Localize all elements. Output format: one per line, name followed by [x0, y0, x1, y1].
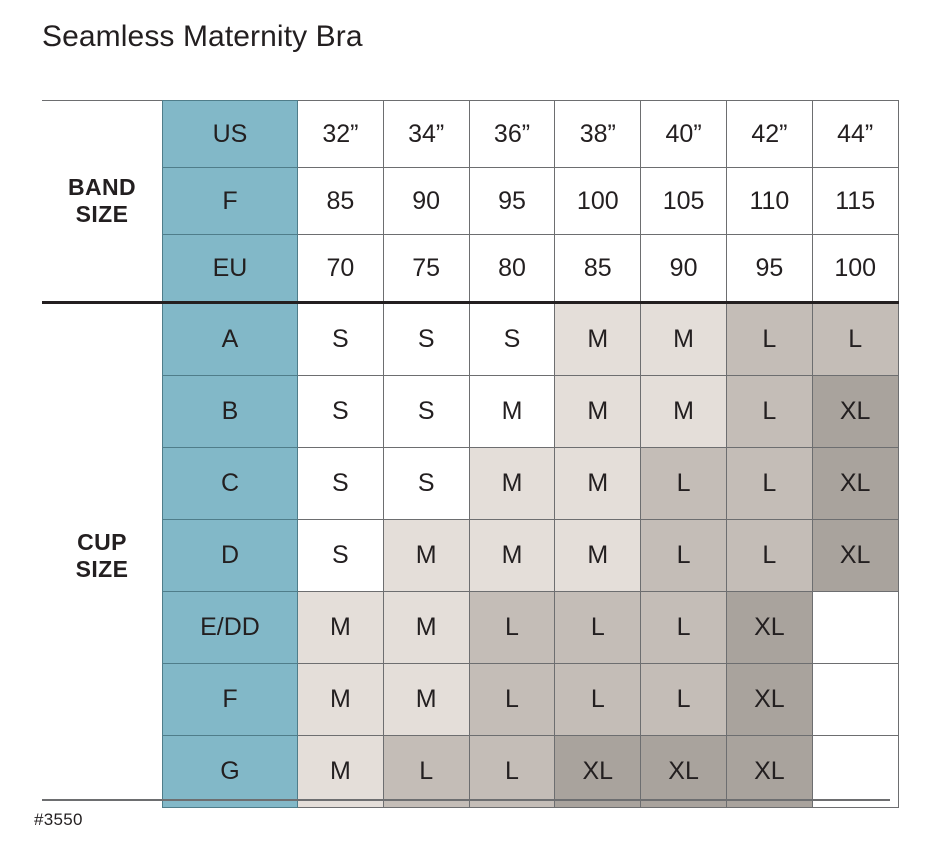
- row-key-g: G: [163, 736, 298, 808]
- cell-fband-2: 95: [469, 168, 555, 235]
- cell-d-5: L: [726, 520, 812, 592]
- cell-b-2: M: [469, 376, 555, 448]
- table-row-cup-g: G M L L XL XL XL: [42, 736, 898, 808]
- table-row-cup-f: F M M L L L XL: [42, 664, 898, 736]
- cell-a-1: S: [383, 303, 469, 376]
- cell-a-5: L: [726, 303, 812, 376]
- cell-fcup-3: L: [555, 664, 641, 736]
- cell-edd-2: L: [469, 592, 555, 664]
- band-size-label-line2: SIZE: [76, 201, 129, 227]
- table-row-cup-c: C S S M M L L XL: [42, 448, 898, 520]
- cell-g-1: L: [383, 736, 469, 808]
- cell-b-0: S: [298, 376, 384, 448]
- cell-b-3: M: [555, 376, 641, 448]
- cell-us-6: 44”: [812, 101, 898, 168]
- cell-a-3: M: [555, 303, 641, 376]
- table-row-cup-d: D S M M M L L XL: [42, 520, 898, 592]
- cell-c-5: L: [726, 448, 812, 520]
- cell-eu-1: 75: [383, 235, 469, 303]
- row-key-edd: E/DD: [163, 592, 298, 664]
- band-size-label-line1: BAND: [68, 174, 136, 200]
- cell-us-1: 34”: [383, 101, 469, 168]
- cell-us-4: 40”: [641, 101, 727, 168]
- cell-b-1: S: [383, 376, 469, 448]
- cell-edd-1: M: [383, 592, 469, 664]
- cell-us-5: 42”: [726, 101, 812, 168]
- cup-size-label-line1: CUP: [77, 529, 127, 555]
- cell-d-6: XL: [812, 520, 898, 592]
- row-key-us: US: [163, 101, 298, 168]
- cell-a-0: S: [298, 303, 384, 376]
- cell-d-2: M: [469, 520, 555, 592]
- cell-g-6: [812, 736, 898, 808]
- cell-fband-5: 110: [726, 168, 812, 235]
- cell-d-1: M: [383, 520, 469, 592]
- cell-g-5: XL: [726, 736, 812, 808]
- cell-c-6: XL: [812, 448, 898, 520]
- size-chart-body: BAND SIZE US 32” 34” 36” 38” 40” 42” 44”…: [42, 101, 898, 808]
- cell-a-2: S: [469, 303, 555, 376]
- table-row-cup-a: CUP SIZE A S S S M M L L: [42, 303, 898, 376]
- cell-fcup-0: M: [298, 664, 384, 736]
- cell-edd-3: L: [555, 592, 641, 664]
- table-row-band-eu: EU 70 75 80 85 90 95 100: [42, 235, 898, 303]
- cell-c-4: L: [641, 448, 727, 520]
- row-key-b: B: [163, 376, 298, 448]
- cell-fcup-2: L: [469, 664, 555, 736]
- cell-fband-0: 85: [298, 168, 384, 235]
- row-key-d: D: [163, 520, 298, 592]
- table-row-band-us: BAND SIZE US 32” 34” 36” 38” 40” 42” 44”: [42, 101, 898, 168]
- page-title: Seamless Maternity Bra: [42, 20, 363, 54]
- cell-us-2: 36”: [469, 101, 555, 168]
- cell-c-3: M: [555, 448, 641, 520]
- cell-eu-3: 85: [555, 235, 641, 303]
- cell-edd-4: L: [641, 592, 727, 664]
- row-key-eu: EU: [163, 235, 298, 303]
- cell-eu-2: 80: [469, 235, 555, 303]
- cup-size-section-label: CUP SIZE: [42, 303, 163, 808]
- cell-c-1: S: [383, 448, 469, 520]
- row-key-f-cup: F: [163, 664, 298, 736]
- cell-g-2: L: [469, 736, 555, 808]
- cell-edd-0: M: [298, 592, 384, 664]
- cell-fband-1: 90: [383, 168, 469, 235]
- size-chart-table: BAND SIZE US 32” 34” 36” 38” 40” 42” 44”…: [42, 100, 899, 808]
- table-row-cup-edd: E/DD M M L L L XL: [42, 592, 898, 664]
- product-code: #3550: [34, 810, 83, 830]
- cell-d-3: M: [555, 520, 641, 592]
- cell-b-4: M: [641, 376, 727, 448]
- cell-g-0: M: [298, 736, 384, 808]
- cell-a-6: L: [812, 303, 898, 376]
- cell-c-0: S: [298, 448, 384, 520]
- cell-g-4: XL: [641, 736, 727, 808]
- cell-fband-4: 105: [641, 168, 727, 235]
- cell-a-4: M: [641, 303, 727, 376]
- cell-edd-5: XL: [726, 592, 812, 664]
- cell-fcup-5: XL: [726, 664, 812, 736]
- cell-us-3: 38”: [555, 101, 641, 168]
- cell-c-2: M: [469, 448, 555, 520]
- cell-fcup-4: L: [641, 664, 727, 736]
- cell-eu-6: 100: [812, 235, 898, 303]
- row-key-c: C: [163, 448, 298, 520]
- cell-fcup-6: [812, 664, 898, 736]
- cell-eu-0: 70: [298, 235, 384, 303]
- cell-eu-5: 95: [726, 235, 812, 303]
- cell-edd-6: [812, 592, 898, 664]
- cell-us-0: 32”: [298, 101, 384, 168]
- cell-fband-6: 115: [812, 168, 898, 235]
- cell-b-5: L: [726, 376, 812, 448]
- cell-eu-4: 90: [641, 235, 727, 303]
- row-key-a: A: [163, 303, 298, 376]
- cell-g-3: XL: [555, 736, 641, 808]
- row-key-f-band: F: [163, 168, 298, 235]
- cup-size-label-line2: SIZE: [76, 556, 129, 582]
- cell-b-6: XL: [812, 376, 898, 448]
- table-row-cup-b: B S S M M M L XL: [42, 376, 898, 448]
- cell-d-0: S: [298, 520, 384, 592]
- table-bottom-rule: [42, 799, 890, 801]
- band-size-section-label: BAND SIZE: [42, 101, 163, 303]
- cell-fcup-1: M: [383, 664, 469, 736]
- cell-d-4: L: [641, 520, 727, 592]
- cell-fband-3: 100: [555, 168, 641, 235]
- table-row-band-f: F 85 90 95 100 105 110 115: [42, 168, 898, 235]
